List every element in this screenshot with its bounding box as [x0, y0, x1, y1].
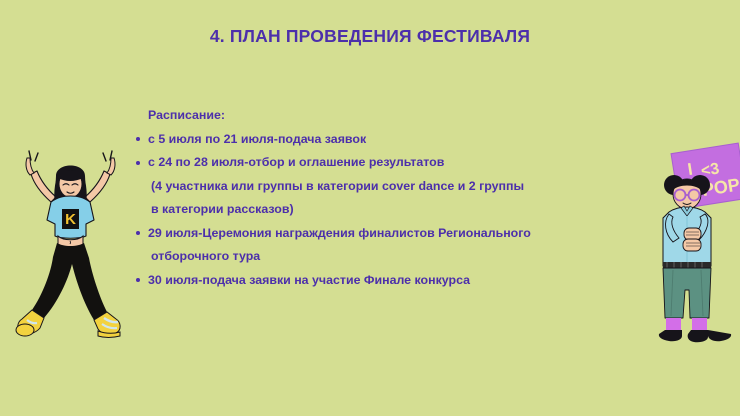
svg-text:K: K — [65, 211, 76, 228]
kpop-fan-illustration: I <3 K-POP — [645, 140, 740, 345]
shirt-k-logo-icon: K — [62, 209, 79, 229]
list-item-label: (4 участника или группы в категории cove… — [151, 179, 524, 193]
list-item-label: 29 июля-Церемония награждения финалистов… — [148, 226, 531, 240]
schedule-content: Расписание: с 5 июля по 21 июля-подача з… — [134, 104, 614, 292]
list-item: 29 июля-Церемония награждения финалистов… — [134, 222, 614, 246]
page-title: 4. ПЛАН ПРОВЕДЕНИЯ ФЕСТИВАЛЯ — [0, 26, 740, 47]
list-item: 30 июля-подача заявки на участие Финале … — [134, 269, 614, 293]
list-item-continuation: в категории рассказов) — [134, 198, 614, 222]
dancing-girl-illustration: K — [6, 140, 136, 345]
list-item-label: в категории рассказов) — [151, 202, 294, 216]
list-item: с 5 июля по 21 июля-подача заявок — [134, 128, 614, 152]
bullet-dot-icon — [136, 231, 140, 235]
list-item-label: с 5 июля по 21 июля-подача заявок — [148, 132, 366, 146]
list-item-label: с 24 по 28 июля-отбор и оглашение резуль… — [148, 155, 444, 169]
right-shoe-icon — [688, 330, 731, 342]
list-item-continuation: отборочного тура — [134, 245, 614, 269]
presentation-slide: 4. ПЛАН ПРОВЕДЕНИЯ ФЕСТИВАЛЯ — [0, 0, 740, 416]
bullet-dot-icon — [136, 161, 140, 165]
bullet-dot-icon — [136, 137, 140, 141]
hands-gripping-pole — [683, 228, 701, 251]
schedule-heading: Расписание: — [148, 104, 614, 128]
list-item-continuation: (4 участника или группы в категории cove… — [134, 175, 614, 199]
list-item-label: 30 июля-подача заявки на участие Финале … — [148, 273, 470, 287]
list-item-label: отборочного тура — [151, 249, 260, 263]
bullet-dot-icon — [136, 278, 140, 282]
list-item: с 24 по 28 июля-отбор и оглашение резуль… — [134, 151, 614, 175]
left-shoe-icon — [659, 330, 682, 341]
schedule-list: с 5 июля по 21 июля-подача заявокс 24 по… — [134, 128, 614, 293]
